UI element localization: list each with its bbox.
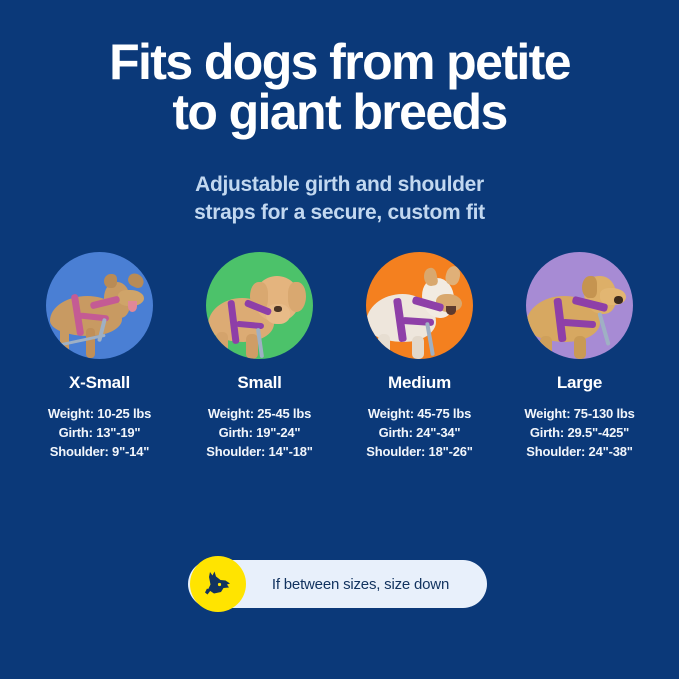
size-guide-page: Fits dogs from petite to giant breeds Ad…	[0, 0, 679, 679]
page-subtitle-line1: Adjustable girth and shoulder	[0, 171, 679, 199]
dog-head-icon	[190, 556, 246, 612]
dog-photo-x-small	[46, 252, 153, 359]
size-specs-medium: Weight: 45-75 lbs Girth: 24"-34" Shoulde…	[366, 405, 472, 462]
spec-weight-small: Weight: 25-45 lbs	[206, 405, 312, 424]
size-columns: X-Small Weight: 10-25 lbs Girth: 13"-19"…	[0, 252, 679, 462]
dog-photo-large	[526, 252, 633, 359]
spec-girth-small: Girth: 19"-24"	[206, 424, 312, 443]
dog-illustration-small	[206, 252, 313, 359]
spec-shoulder-x-small: Shoulder: 9"-14"	[48, 443, 151, 462]
size-down-text: If between sizes, size down	[272, 576, 449, 593]
page-subtitle-line2: straps for a secure, custom fit	[0, 199, 679, 227]
size-specs-small: Weight: 25-45 lbs Girth: 19"-24" Shoulde…	[206, 405, 312, 462]
spec-weight-x-small: Weight: 10-25 lbs	[48, 405, 151, 424]
size-down-badge: If between sizes, size down	[188, 560, 487, 608]
spec-shoulder-medium: Shoulder: 18"-26"	[366, 443, 472, 462]
spec-shoulder-small: Shoulder: 14"-18"	[206, 443, 312, 462]
size-column-x-small: X-Small Weight: 10-25 lbs Girth: 13"-19"…	[20, 252, 180, 462]
size-label-small: Small	[237, 373, 281, 393]
spec-girth-x-small: Girth: 13"-19"	[48, 424, 151, 443]
spec-weight-medium: Weight: 45-75 lbs	[366, 405, 472, 424]
size-specs-x-small: Weight: 10-25 lbs Girth: 13"-19" Shoulde…	[48, 405, 151, 462]
page-title-line2: to giant breeds	[0, 88, 679, 138]
dog-illustration-x-small	[46, 252, 153, 359]
dog-illustration-large	[526, 252, 633, 359]
size-specs-large: Weight: 75-130 lbs Girth: 29.5"-425" Sho…	[524, 405, 634, 462]
size-column-small: Small Weight: 25-45 lbs Girth: 19"-24" S…	[180, 252, 340, 462]
page-title-line1: Fits dogs from petite	[0, 38, 679, 88]
size-column-large: Large Weight: 75-130 lbs Girth: 29.5"-42…	[500, 252, 660, 462]
dog-illustration-medium	[366, 252, 473, 359]
size-label-large: Large	[557, 373, 602, 393]
size-label-x-small: X-Small	[69, 373, 130, 393]
dog-photo-small	[206, 252, 313, 359]
spec-shoulder-large: Shoulder: 24"-38"	[524, 443, 634, 462]
size-column-medium: Medium Weight: 45-75 lbs Girth: 24"-34" …	[340, 252, 500, 462]
spec-weight-large: Weight: 75-130 lbs	[524, 405, 634, 424]
size-label-medium: Medium	[388, 373, 451, 393]
page-title: Fits dogs from petite to giant breeds	[0, 38, 679, 137]
spec-girth-medium: Girth: 24"-34"	[366, 424, 472, 443]
page-subtitle: Adjustable girth and shoulder straps for…	[0, 171, 679, 226]
dog-photo-medium	[366, 252, 473, 359]
spec-girth-large: Girth: 29.5"-425"	[524, 424, 634, 443]
